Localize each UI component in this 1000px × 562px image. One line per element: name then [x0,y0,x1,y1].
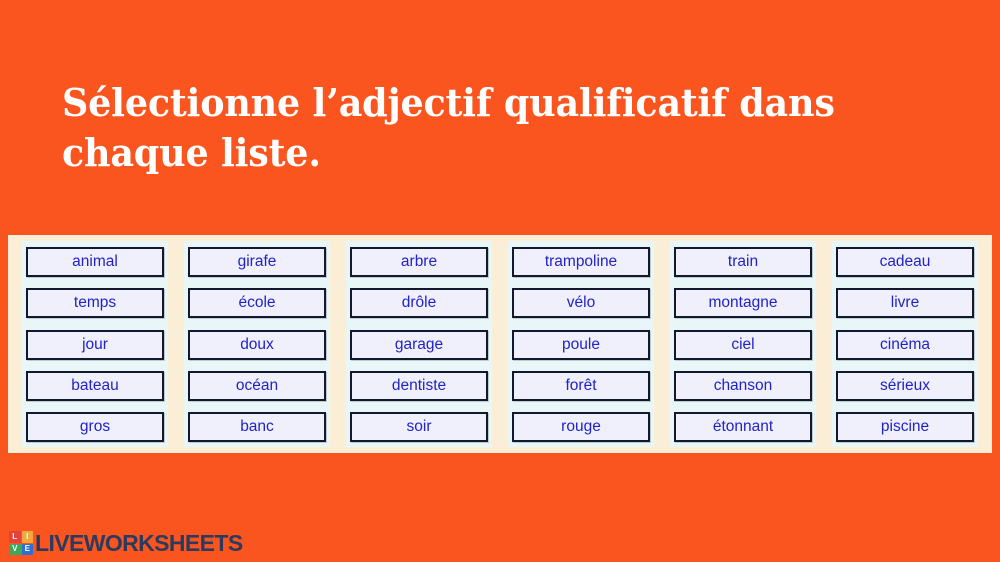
word-option-box[interactable]: sérieux [836,371,974,401]
word-lists-panel: animaltempsjourbateaugrosgirafeécoledoux… [8,235,992,453]
word-option-box[interactable]: livre [836,288,974,318]
word-option-box[interactable]: forêt [512,371,650,401]
instruction-title-line-2: chaque liste. [62,128,888,178]
word-option-box[interactable]: montagne [674,288,812,318]
word-option-box[interactable]: dentiste [350,371,488,401]
word-option-box[interactable]: animal [26,247,164,277]
instruction-title: Sélectionne l’adjectif qualificatif dans… [62,78,922,178]
logo-letter-v: V [9,544,21,556]
word-option-box[interactable]: train [674,247,812,277]
word-column: arbredrôlegaragedentistesoir [346,241,492,447]
word-option-box[interactable]: temps [26,288,164,318]
word-option-box[interactable]: trampoline [512,247,650,277]
word-option-box[interactable]: cadeau [836,247,974,277]
word-option-box[interactable]: drôle [350,288,488,318]
liveworksheets-wordmark: LIVEWORKSHEETS [35,531,243,555]
logo-letter-i: I [22,531,34,543]
word-column: trainmontagnecielchansonétonnant [670,241,816,447]
word-option-box[interactable]: piscine [836,412,974,442]
word-option-box[interactable]: jour [26,330,164,360]
word-option-box[interactable]: école [188,288,326,318]
word-option-box[interactable]: océan [188,371,326,401]
word-option-box[interactable]: chanson [674,371,812,401]
word-option-box[interactable]: bateau [26,371,164,401]
logo-letter-e: E [22,544,34,556]
word-option-box[interactable]: poule [512,330,650,360]
liveworksheets-logo: L I V E LIVEWORKSHEETS [9,531,243,555]
logo-letter-l: L [9,531,21,543]
word-option-box[interactable]: étonnant [674,412,812,442]
word-option-box[interactable]: vélo [512,288,650,318]
word-option-box[interactable]: banc [188,412,326,442]
word-column: trampolinevélopouleforêtrouge [508,241,654,447]
word-option-box[interactable]: rouge [512,412,650,442]
word-option-box[interactable]: girafe [188,247,326,277]
word-option-box[interactable]: garage [350,330,488,360]
word-column: girafeécoledouxocéanbanc [184,241,330,447]
word-column: cadeaulivrecinémasérieuxpiscine [832,241,978,447]
worksheet-page: Sélectionne l’adjectif qualificatif dans… [0,0,1000,562]
word-option-box[interactable]: gros [26,412,164,442]
word-option-box[interactable]: cinéma [836,330,974,360]
word-column: animaltempsjourbateaugros [22,241,168,447]
word-option-box[interactable]: soir [350,412,488,442]
word-option-box[interactable]: doux [188,330,326,360]
word-option-box[interactable]: ciel [674,330,812,360]
instruction-title-line-1: Sélectionne l’adjectif qualificatif dans [62,78,888,128]
word-option-box[interactable]: arbre [350,247,488,277]
liveworksheets-logo-icon: L I V E [9,531,33,555]
